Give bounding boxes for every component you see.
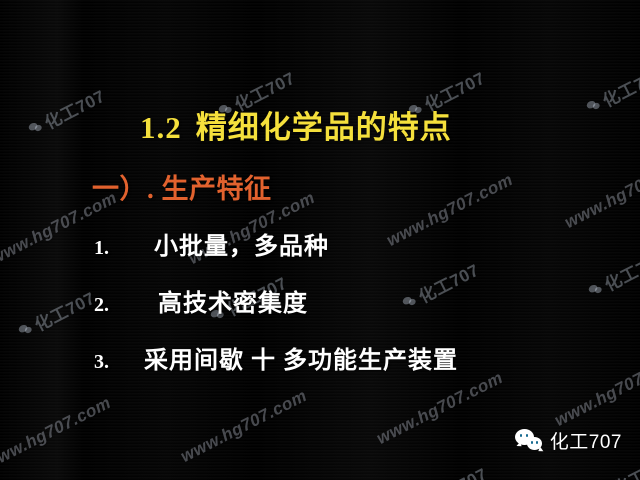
list-item: 1. 小批量，多品种 (0, 226, 640, 261)
presentation-slide: 化工707 化工707 化工707 化工707 www.hg707.com ww… (0, 0, 640, 480)
list-item-number: 2. (0, 294, 150, 317)
list-item-text: 小批量，多品种 (154, 226, 329, 261)
list-item-text: 高技术密集度 (158, 283, 308, 318)
slide-content: 1.2精细化学品的特点 一）. 生产特征 1. 小批量，多品种 2. 高技术密集… (0, 0, 640, 480)
section-subtitle: 一）. 生产特征 (92, 167, 272, 206)
wechat-icon (515, 429, 543, 452)
page-title-number: 1.2 (140, 110, 182, 145)
list-item: 2. 高技术密集度 (0, 283, 640, 318)
bullet-list: 1. 小批量，多品种 2. 高技术密集度 3. 采用间歇 十 多功能生产装置 (0, 226, 640, 375)
list-item-number: 1. (0, 237, 150, 260)
list-item-number: 3. (0, 351, 150, 374)
list-item: 3. 采用间歇 十 多功能生产装置 (0, 340, 640, 375)
brand-badge: 化工707 (515, 427, 622, 454)
page-title-text: 精细化学品的特点 (196, 110, 452, 145)
list-item-text: 采用间歇 十 多功能生产装置 (144, 340, 458, 375)
brand-badge-label: 化工707 (550, 427, 622, 454)
page-title: 1.2精细化学品的特点 (140, 102, 452, 147)
